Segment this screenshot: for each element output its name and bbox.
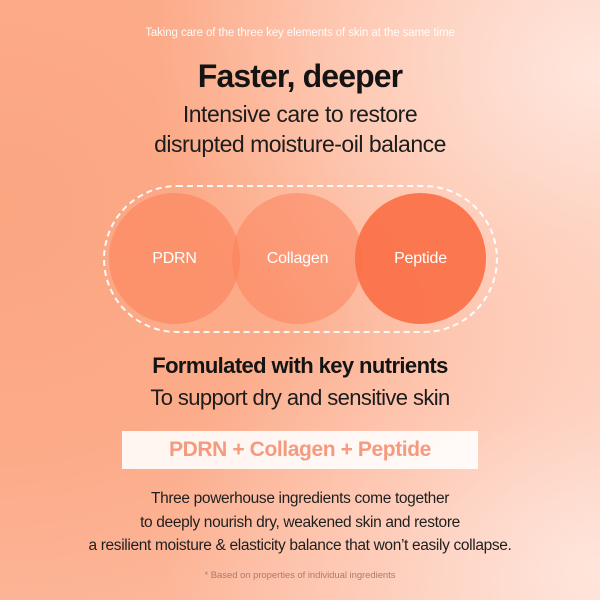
ingredient-venn-diagram: PDRN Collagen Peptide	[103, 185, 498, 333]
body-paragraph-line-3: a resilient moisture & elasticity balanc…	[0, 534, 600, 558]
page-subtitle: Intensive care to restore disrupted mois…	[0, 99, 600, 159]
eyebrow-text: Taking care of the three key elements of…	[0, 27, 600, 39]
venn-circle-pdrn: PDRN	[109, 193, 240, 324]
body-paragraph-line-1: Three powerhouse ingredients come togeth…	[0, 487, 600, 511]
venn-circle-label: PDRN	[152, 250, 197, 268]
benefit-heading: Formulated with key nutrients	[0, 353, 600, 379]
page-title: Faster, deeper	[0, 58, 600, 95]
venn-circle-label: Peptide	[394, 250, 447, 268]
key-ingredients-banner: PDRN + Collagen + Peptide	[122, 431, 478, 469]
key-ingredients-text: PDRN + Collagen + Peptide	[169, 438, 431, 462]
benefit-subheading: To support dry and sensitive skin	[0, 385, 600, 411]
body-paragraph: Three powerhouse ingredients come togeth…	[0, 487, 600, 558]
page-subtitle-line-2: disrupted moisture-oil balance	[0, 129, 600, 159]
promo-poster: Taking care of the three key elements of…	[0, 0, 600, 600]
venn-circle-collagen: Collagen	[232, 193, 363, 324]
venn-circle-peptide: Peptide	[355, 193, 486, 324]
page-subtitle-line-1: Intensive care to restore	[0, 99, 600, 129]
footnote-text: * Based on properties of individual ingr…	[0, 570, 600, 581]
venn-circle-label: Collagen	[267, 250, 329, 268]
body-paragraph-line-2: to deeply nourish dry, weakened skin and…	[0, 511, 600, 535]
